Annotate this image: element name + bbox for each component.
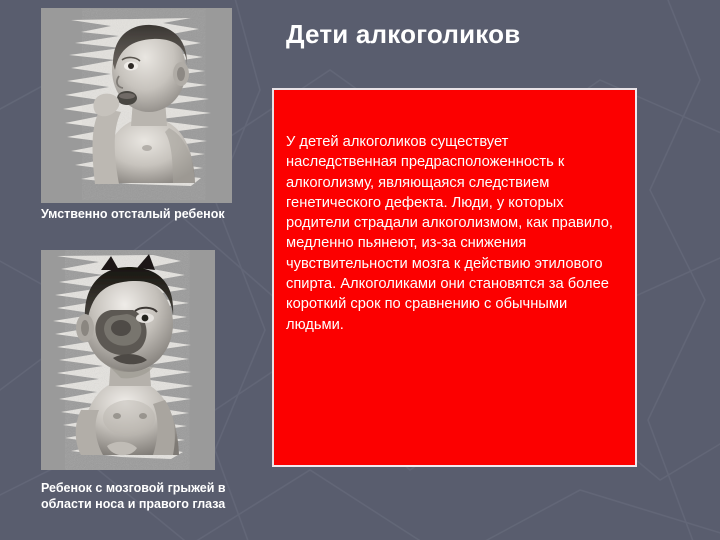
body-text-box: У детей алкоголиков существует наследств… xyxy=(272,88,637,467)
page-title: Дети алкоголиков xyxy=(286,20,706,50)
photo-2-caption: Ребенок с мозговой грыжей в области носа… xyxy=(41,480,256,512)
body-text: У детей алкоголиков существует наследств… xyxy=(286,132,620,335)
photo-1-graphic xyxy=(41,8,232,203)
photo-1-caption: Умственно отсталый ребенок xyxy=(41,206,256,222)
photo-2-graphic xyxy=(41,250,215,470)
slide: Дети алкоголиков xyxy=(0,0,720,540)
mentally-retarded-child-photo xyxy=(41,8,232,203)
child-with-brain-hernia-photo xyxy=(41,250,215,470)
